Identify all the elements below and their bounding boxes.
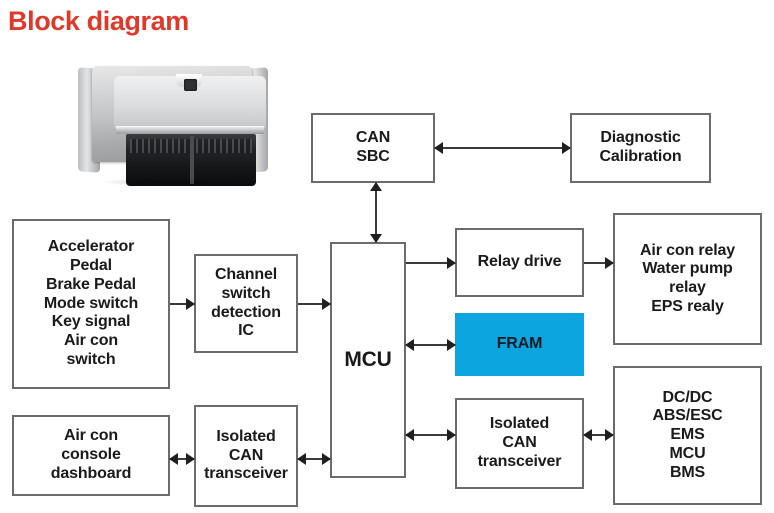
ecu-drop-shadow xyxy=(100,178,246,186)
block-fram[interactable]: FRAM xyxy=(455,313,584,376)
connector-sensor-inputs-to-channel-switch xyxy=(170,296,194,312)
block-sensor-inputs[interactable]: Accelerator Pedal Brake Pedal Mode switc… xyxy=(12,219,170,389)
block-channel-switch-detection-ic[interactable]: Channel switch detection IC xyxy=(194,254,298,353)
ecu-housing xyxy=(92,66,252,162)
connector-mcu-to-can-sbc xyxy=(368,183,384,242)
connector-isolated-can-left-to-air-con-console xyxy=(170,451,194,467)
block-relay-drive[interactable]: Relay drive xyxy=(455,228,584,297)
connector-relay-drive-to-relay-loads xyxy=(584,255,613,271)
ecu-connector-divider xyxy=(190,136,194,184)
ecu-screw-icon xyxy=(184,79,197,91)
block-air-con-console-dashboard[interactable]: Air con console dashboard xyxy=(12,415,170,496)
block-mcu[interactable]: MCU xyxy=(330,242,406,478)
ecu-seam-lip xyxy=(116,126,264,134)
block-diagnostic-calibration[interactable]: Diagnostic Calibration xyxy=(570,113,711,183)
block-isolated-can-transceiver-left[interactable]: Isolated CAN transceiver xyxy=(194,405,298,507)
connector-isolated-can-right-to-vehicle-bus xyxy=(584,427,613,443)
block-can-sbc[interactable]: CAN SBC xyxy=(311,113,435,183)
connector-channel-switch-to-mcu xyxy=(298,296,330,312)
connector-can-sbc-to-diagnostic xyxy=(435,140,570,156)
page-title: Block diagram xyxy=(8,6,189,37)
block-diagram-canvas: Block diagram CAN SBC Diagnostic Calibra… xyxy=(0,0,774,513)
ecu-module-photo xyxy=(74,60,272,195)
connector-mcu-to-relay-drive xyxy=(406,255,455,271)
connector-mcu-to-isolated-can-right xyxy=(406,427,455,443)
block-isolated-can-transceiver-right[interactable]: Isolated CAN transceiver xyxy=(455,398,584,489)
connector-mcu-to-fram xyxy=(406,337,455,353)
block-vehicle-bus-nodes[interactable]: DC/DC ABS/ESC EMS MCU BMS xyxy=(613,366,762,505)
block-relay-loads[interactable]: Air con relay Water pump relay EPS realy xyxy=(613,213,762,345)
connector-mcu-to-isolated-can-left xyxy=(298,451,330,467)
